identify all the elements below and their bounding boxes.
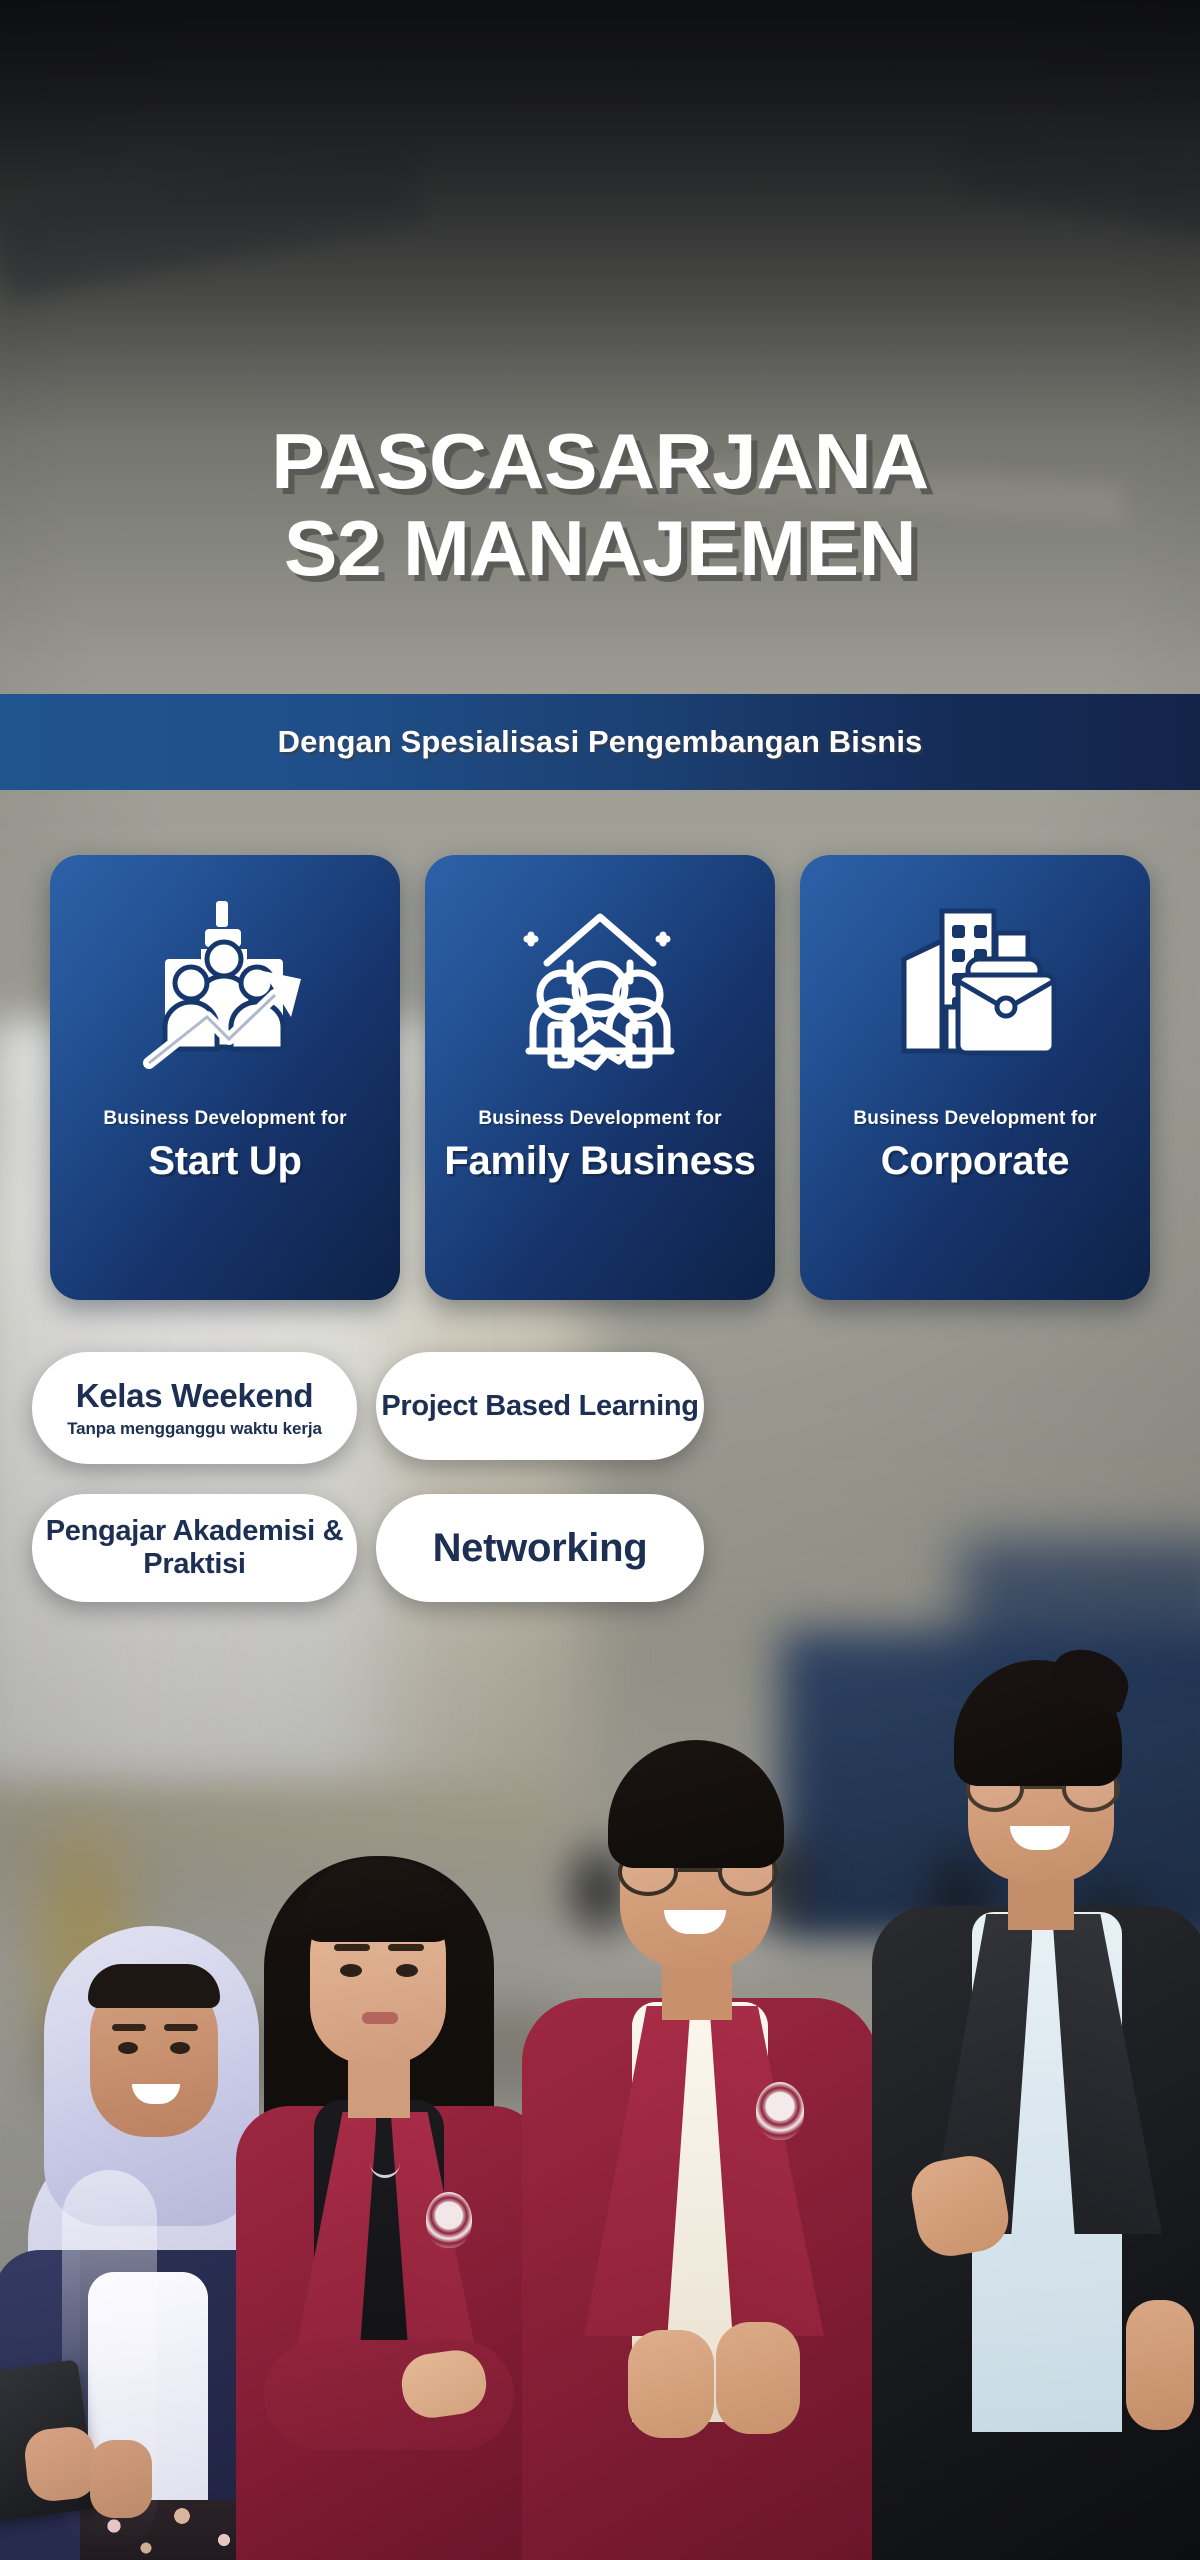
pill-title: Project Based Learning	[381, 1390, 698, 1423]
specialization-cards: Business Development for Start Up	[50, 855, 1150, 1300]
subtitle-band: Dengan Spesialisasi Pengembangan Bisnis	[0, 694, 1200, 790]
person-woman-maroon-blazer	[230, 1820, 550, 2560]
brow-right	[164, 2024, 198, 2031]
glasses-bridge	[678, 1868, 718, 1872]
card-eyebrow: Business Development for	[853, 1108, 1096, 1130]
title-line-1: PASCASARJANA	[0, 424, 1200, 500]
lips	[362, 2012, 398, 2024]
card-eyebrow: Business Development for	[103, 1108, 346, 1130]
smile	[132, 2084, 180, 2104]
brow-left	[112, 2024, 146, 2031]
card-family-business[interactable]: Business Development for Family Business	[425, 855, 775, 1300]
necklace	[370, 2138, 400, 2178]
pill-pengajar-akademisi-praktisi[interactable]: Pengajar Akademisi & Praktisi	[32, 1494, 357, 1602]
eye-left	[118, 2042, 138, 2054]
feature-pills: Kelas Weekend Tanpa mengganggu waktu ker…	[0, 1340, 1200, 1640]
brow-left	[334, 1944, 370, 1951]
eye-left	[340, 1964, 362, 1977]
pill-title: Kelas Weekend	[76, 1377, 314, 1415]
subtitle-text: Dengan Spesialisasi Pengembangan Bisnis	[278, 724, 923, 760]
hand-right	[716, 2322, 800, 2434]
eye-right	[170, 2042, 190, 2054]
family-house-handshake-icon	[507, 889, 693, 1084]
pill-project-based-learning[interactable]: Project Based Learning	[376, 1352, 704, 1460]
card-title: Start Up	[148, 1139, 301, 1184]
buildings-briefcase-icon	[884, 889, 1066, 1084]
person-man-maroon-blazer-glasses	[520, 1730, 880, 2560]
university-crest-badge	[426, 2192, 472, 2248]
fringe	[88, 1964, 220, 2008]
eye-right	[396, 1964, 418, 1977]
hand-at-side	[1126, 2300, 1194, 2430]
people-photo-group	[0, 1680, 1200, 2560]
title-line-2: S2 MANAJEMEN	[0, 511, 1200, 587]
hand-left	[22, 2425, 99, 2504]
pill-networking[interactable]: Networking	[376, 1494, 704, 1602]
person-man-black-suit-glasses	[876, 1660, 1200, 2560]
smile	[664, 1910, 726, 1934]
card-eyebrow: Business Development for	[478, 1108, 721, 1130]
smile	[1010, 1826, 1070, 1850]
card-title: Family Business	[444, 1139, 755, 1184]
pill-title: Pengajar Akademisi & Praktisi	[32, 1515, 357, 1581]
university-crest-badge	[756, 2082, 804, 2140]
card-title: Corporate	[881, 1139, 1069, 1184]
poster-title: PASCASARJANA S2 MANAJEMEN	[0, 424, 1200, 586]
card-corporate[interactable]: Business Development for Corporate	[800, 855, 1150, 1300]
hair	[608, 1740, 784, 1868]
brow-right	[388, 1944, 424, 1951]
hand-left	[628, 2330, 714, 2438]
pill-subtitle: Tanpa mengganggu waktu kerja	[67, 1419, 322, 1439]
poster-root: PASCASARJANA S2 MANAJEMEN Dengan Spesial…	[0, 0, 1200, 2560]
hand-right	[90, 2440, 152, 2518]
startup-growth-icon	[135, 889, 315, 1084]
pill-title: Networking	[433, 1526, 648, 1571]
card-start-up[interactable]: Business Development for Start Up	[50, 855, 400, 1300]
pill-kelas-weekend[interactable]: Kelas Weekend Tanpa mengganggu waktu ker…	[32, 1352, 357, 1464]
